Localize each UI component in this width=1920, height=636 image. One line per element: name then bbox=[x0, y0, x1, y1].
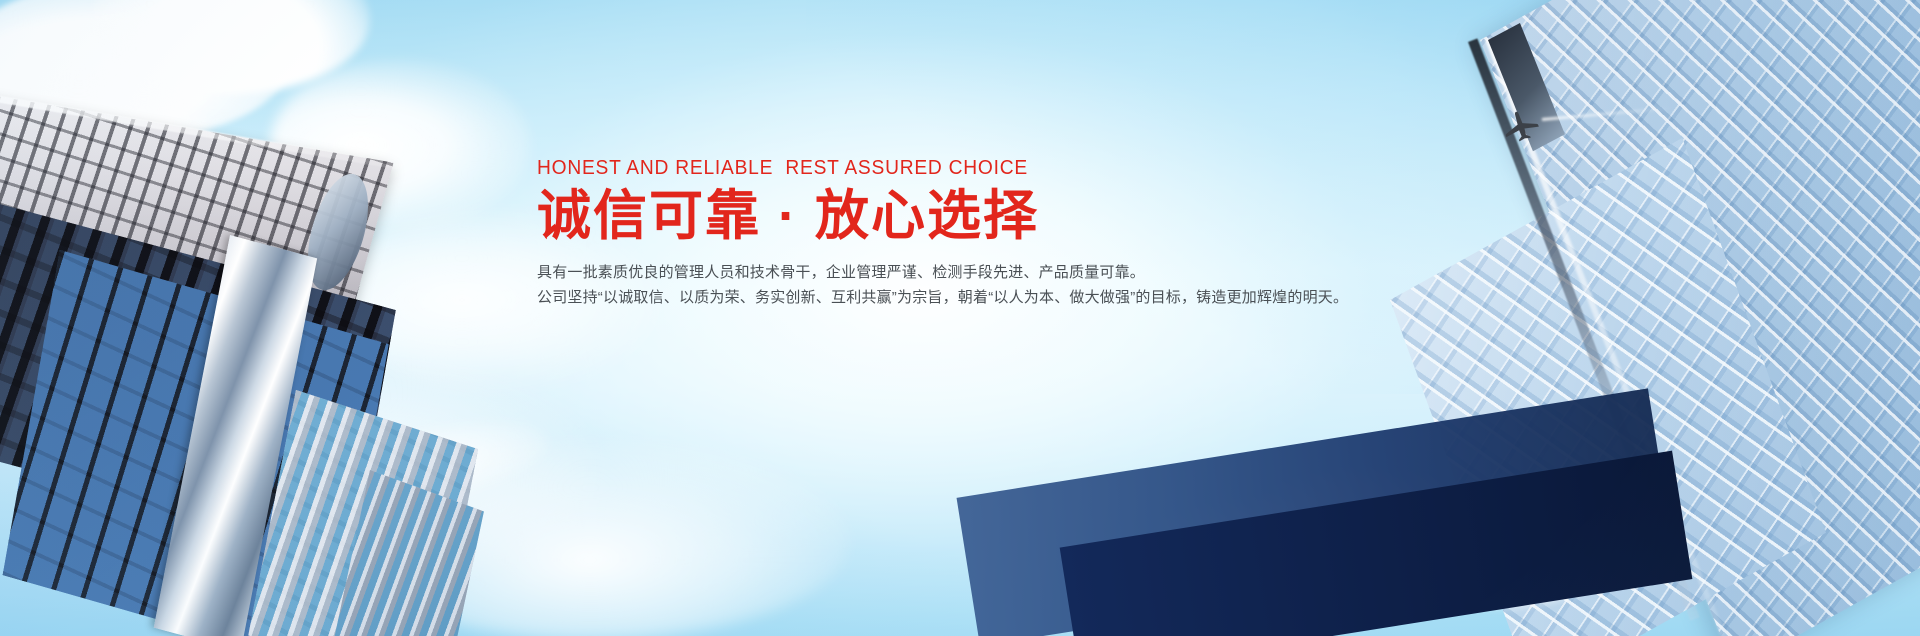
banner-copy: HONEST AND RELIABLE REST ASSURED CHOICE … bbox=[537, 156, 1387, 310]
airplane-icon bbox=[1498, 108, 1544, 144]
banner-eyebrow: HONEST AND RELIABLE REST ASSURED CHOICE bbox=[537, 156, 1353, 181]
hero-banner: HONEST AND RELIABLE REST ASSURED CHOICE … bbox=[0, 0, 1920, 636]
banner-headline: 诚信可靠 · 放心选择 bbox=[537, 185, 1387, 248]
paragraph-line: 具有一批素质优良的管理人员和技术骨干，企业管理严谨、检测手段先进、产品质量可靠。 bbox=[537, 260, 1387, 285]
left-skyscraper-cluster bbox=[0, 0, 430, 636]
banner-paragraph: 具有一批素质优良的管理人员和技术骨干，企业管理严谨、检测手段先进、产品质量可靠。… bbox=[537, 260, 1387, 310]
paragraph-line: 公司坚持“以诚取信、以质为荣、务实创新、互利共赢”为宗旨，朝着“以人为本、做大做… bbox=[537, 285, 1387, 310]
